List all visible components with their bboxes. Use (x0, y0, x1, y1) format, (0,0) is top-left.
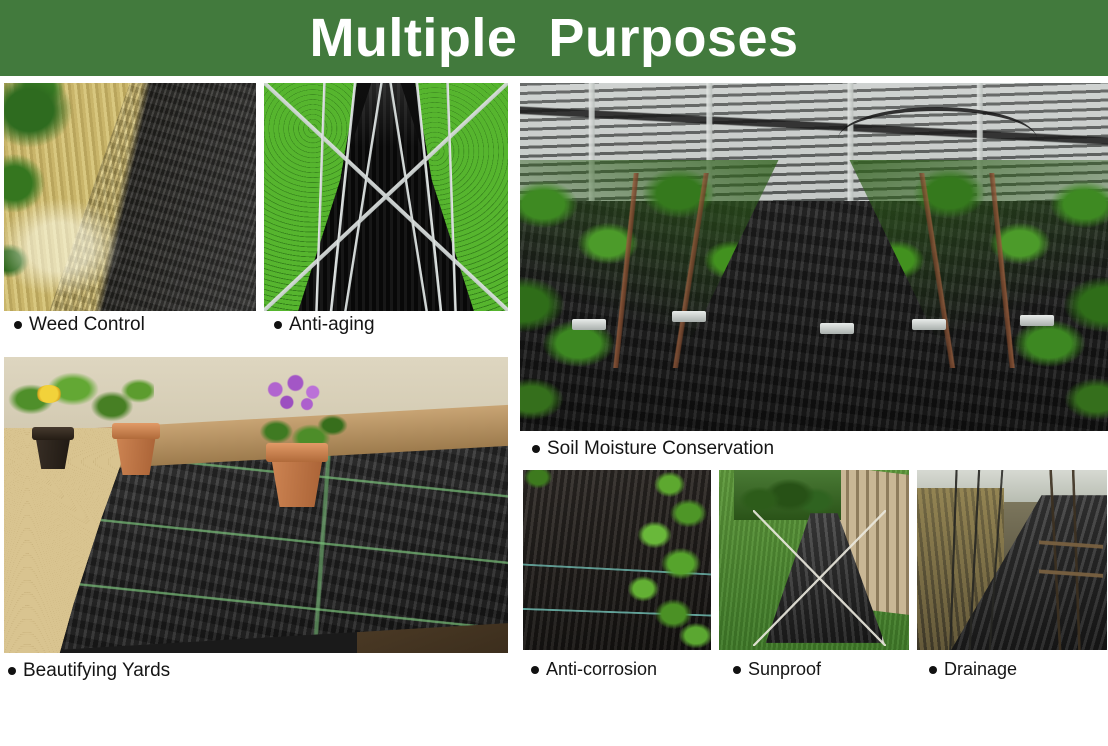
pot-body (266, 460, 328, 507)
photo-drainage (917, 470, 1107, 650)
bullet-icon (532, 445, 540, 453)
photo-sunproof (719, 470, 909, 650)
bullet-icon (733, 666, 741, 674)
photo-anti-corrosion (523, 470, 711, 650)
label-anti-aging: Anti-aging (274, 314, 375, 336)
wooden-rails-layer (1039, 520, 1104, 592)
pot-rim (112, 423, 160, 439)
bullet-icon (14, 321, 22, 329)
plant-pot-black (32, 427, 74, 469)
bullet-icon (274, 321, 282, 329)
label-anti-corrosion: Anti-corrosion (531, 659, 657, 680)
label-text: Drainage (944, 659, 1017, 680)
label-text: Soil Moisture Conservation (547, 438, 774, 460)
label-weed-control: Weed Control (14, 314, 145, 336)
bed-edging-layer (753, 510, 886, 647)
photo-weed-control (4, 83, 256, 311)
fabric-clips-layer (520, 83, 1108, 431)
label-sunproof: Sunproof (733, 659, 821, 680)
photo-soil-moisture (520, 83, 1108, 431)
yellow-flower (36, 385, 62, 403)
label-text: Anti-aging (289, 314, 375, 336)
bullet-icon (531, 666, 539, 674)
plant-pot-terracotta-center (266, 443, 328, 507)
label-soil-moisture: Soil Moisture Conservation (532, 438, 774, 460)
pot-body (32, 438, 74, 469)
label-text: Weed Control (29, 314, 145, 336)
pot-rim (32, 427, 74, 440)
strawberry-plants-layer (523, 470, 711, 650)
label-text: Anti-corrosion (546, 659, 657, 680)
label-text: Beautifying Yards (23, 660, 170, 682)
label-drainage: Drainage (929, 659, 1017, 680)
bullet-icon (8, 667, 16, 675)
bullet-icon (929, 666, 937, 674)
photo-anti-aging (264, 83, 508, 311)
pot-rim (266, 443, 328, 462)
label-beautifying-yards: Beautifying Yards (8, 660, 170, 682)
highlight-layer (4, 83, 256, 311)
header-banner: Multiple Purposes (0, 0, 1108, 76)
bench-legs-layer (264, 83, 508, 311)
plant-pot-terracotta-left (112, 423, 160, 475)
photo-beautifying-yards (4, 357, 508, 653)
label-text: Sunproof (748, 659, 821, 680)
page-title: Multiple Purposes (309, 11, 798, 65)
purple-flower-cluster (258, 371, 330, 417)
pot-body (112, 437, 160, 475)
